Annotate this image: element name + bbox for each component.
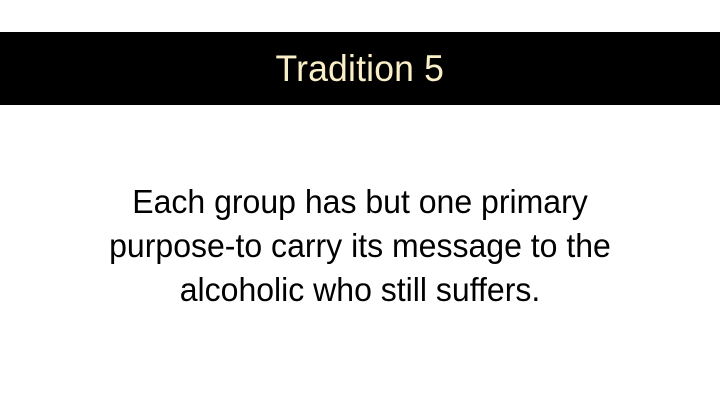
body-line: purpose-to carry its message to the	[50, 224, 671, 268]
slide-canvas: Tradition 5 Each group has but one prima…	[0, 0, 720, 405]
page-title: Tradition 5	[276, 50, 445, 87]
slide-body-text: Each group has but one primary purpose-t…	[40, 180, 680, 312]
body-line: Each group has but one primary	[50, 180, 671, 224]
body-line: alcoholic who still suffers.	[50, 268, 671, 312]
title-banner: Tradition 5	[0, 32, 720, 105]
